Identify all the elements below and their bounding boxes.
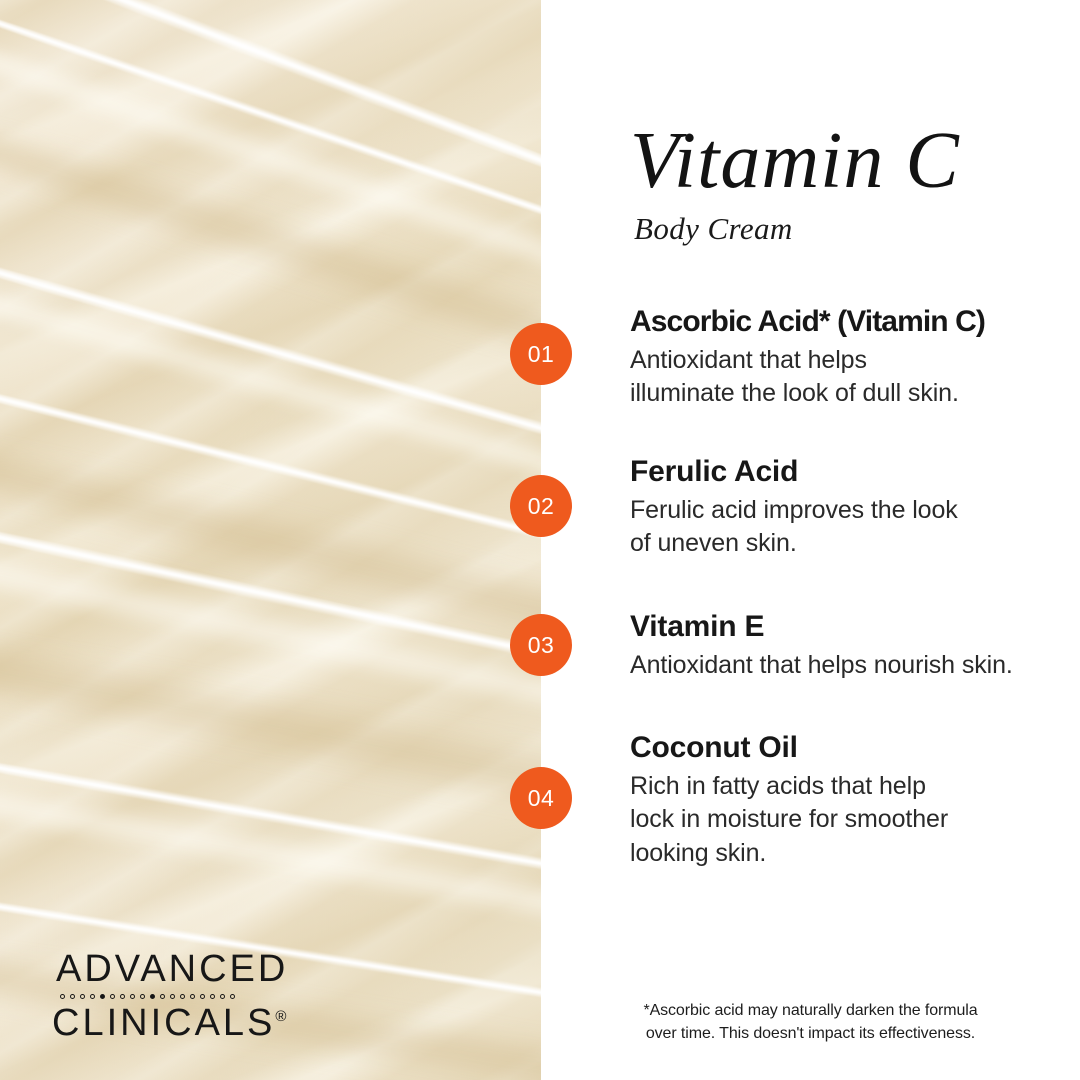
brand-logo-dot xyxy=(120,994,125,999)
step-badge-04: 04 xyxy=(510,767,572,829)
brand-logo: ADVANCED CLINICALS® xyxy=(52,951,288,1042)
infographic-canvas: ADVANCED CLINICALS® Vitamin C Body Cream… xyxy=(0,0,1080,1080)
brand-name-line-1: ADVANCED xyxy=(52,951,288,988)
cream-texture-image: ADVANCED CLINICALS® xyxy=(0,0,541,1080)
ingredient-description: Rich in fatty acids that help lock in mo… xyxy=(630,770,1070,870)
brand-logo-dot xyxy=(100,994,105,999)
ingredient-title: Ferulic Acid xyxy=(630,455,1070,489)
brand-logo-dot xyxy=(130,994,135,999)
content-panel: Vitamin C Body Cream Ascorbic Acid* (Vit… xyxy=(541,0,1080,1080)
step-badge-number: 04 xyxy=(528,785,554,812)
brand-logo-dot xyxy=(200,994,205,999)
brand-logo-dot xyxy=(150,994,155,999)
ingredient-description: Antioxidant that helps nourish skin. xyxy=(630,649,1070,682)
brand-logo-dot xyxy=(230,994,235,999)
ingredient-item-02: Ferulic Acid Ferulic acid improves the l… xyxy=(630,455,1070,561)
brand-logo-dot xyxy=(60,994,65,999)
brand-logo-dot xyxy=(160,994,165,999)
page-title: Vitamin C xyxy=(630,124,1060,199)
brand-name-line-2-text: CLINICALS xyxy=(52,1002,275,1044)
brand-name-line-2: CLINICALS® xyxy=(52,1005,288,1042)
ingredient-description: Ferulic acid improves the look of uneven… xyxy=(630,494,1070,561)
brand-logo-dot xyxy=(90,994,95,999)
ingredient-item-01: Ascorbic Acid* (Vitamin C) Antioxidant t… xyxy=(630,305,1070,411)
brand-logo-dot xyxy=(140,994,145,999)
brand-logo-dot xyxy=(170,994,175,999)
brand-logo-dot xyxy=(80,994,85,999)
step-badge-number: 01 xyxy=(528,341,554,368)
ingredient-description: Antioxidant that helps illuminate the lo… xyxy=(630,344,1070,411)
step-badge-02: 02 xyxy=(510,475,572,537)
step-badge-03: 03 xyxy=(510,614,572,676)
registered-trademark-icon: ® xyxy=(275,1008,286,1025)
title-block: Vitamin C Body Cream xyxy=(630,124,1060,247)
footnote-disclaimer: *Ascorbic acid may naturally darken the … xyxy=(541,1000,1080,1045)
ingredient-title: Vitamin E xyxy=(630,610,1070,644)
step-badge-number: 02 xyxy=(528,493,554,520)
step-badge-number: 03 xyxy=(528,632,554,659)
brand-logo-dot xyxy=(210,994,215,999)
page-subtitle: Body Cream xyxy=(630,211,1060,247)
brand-logo-dot xyxy=(110,994,115,999)
brand-logo-dot xyxy=(190,994,195,999)
ingredient-title: Coconut Oil xyxy=(630,731,1070,765)
brand-logo-dot xyxy=(220,994,225,999)
ingredient-title: Ascorbic Acid* (Vitamin C) xyxy=(630,305,1070,339)
brand-logo-dot xyxy=(70,994,75,999)
step-badge-01: 01 xyxy=(510,323,572,385)
ingredient-item-04: Coconut Oil Rich in fatty acids that hel… xyxy=(630,731,1070,870)
ingredient-item-03: Vitamin E Antioxidant that helps nourish… xyxy=(630,610,1070,682)
brand-logo-dot xyxy=(180,994,185,999)
